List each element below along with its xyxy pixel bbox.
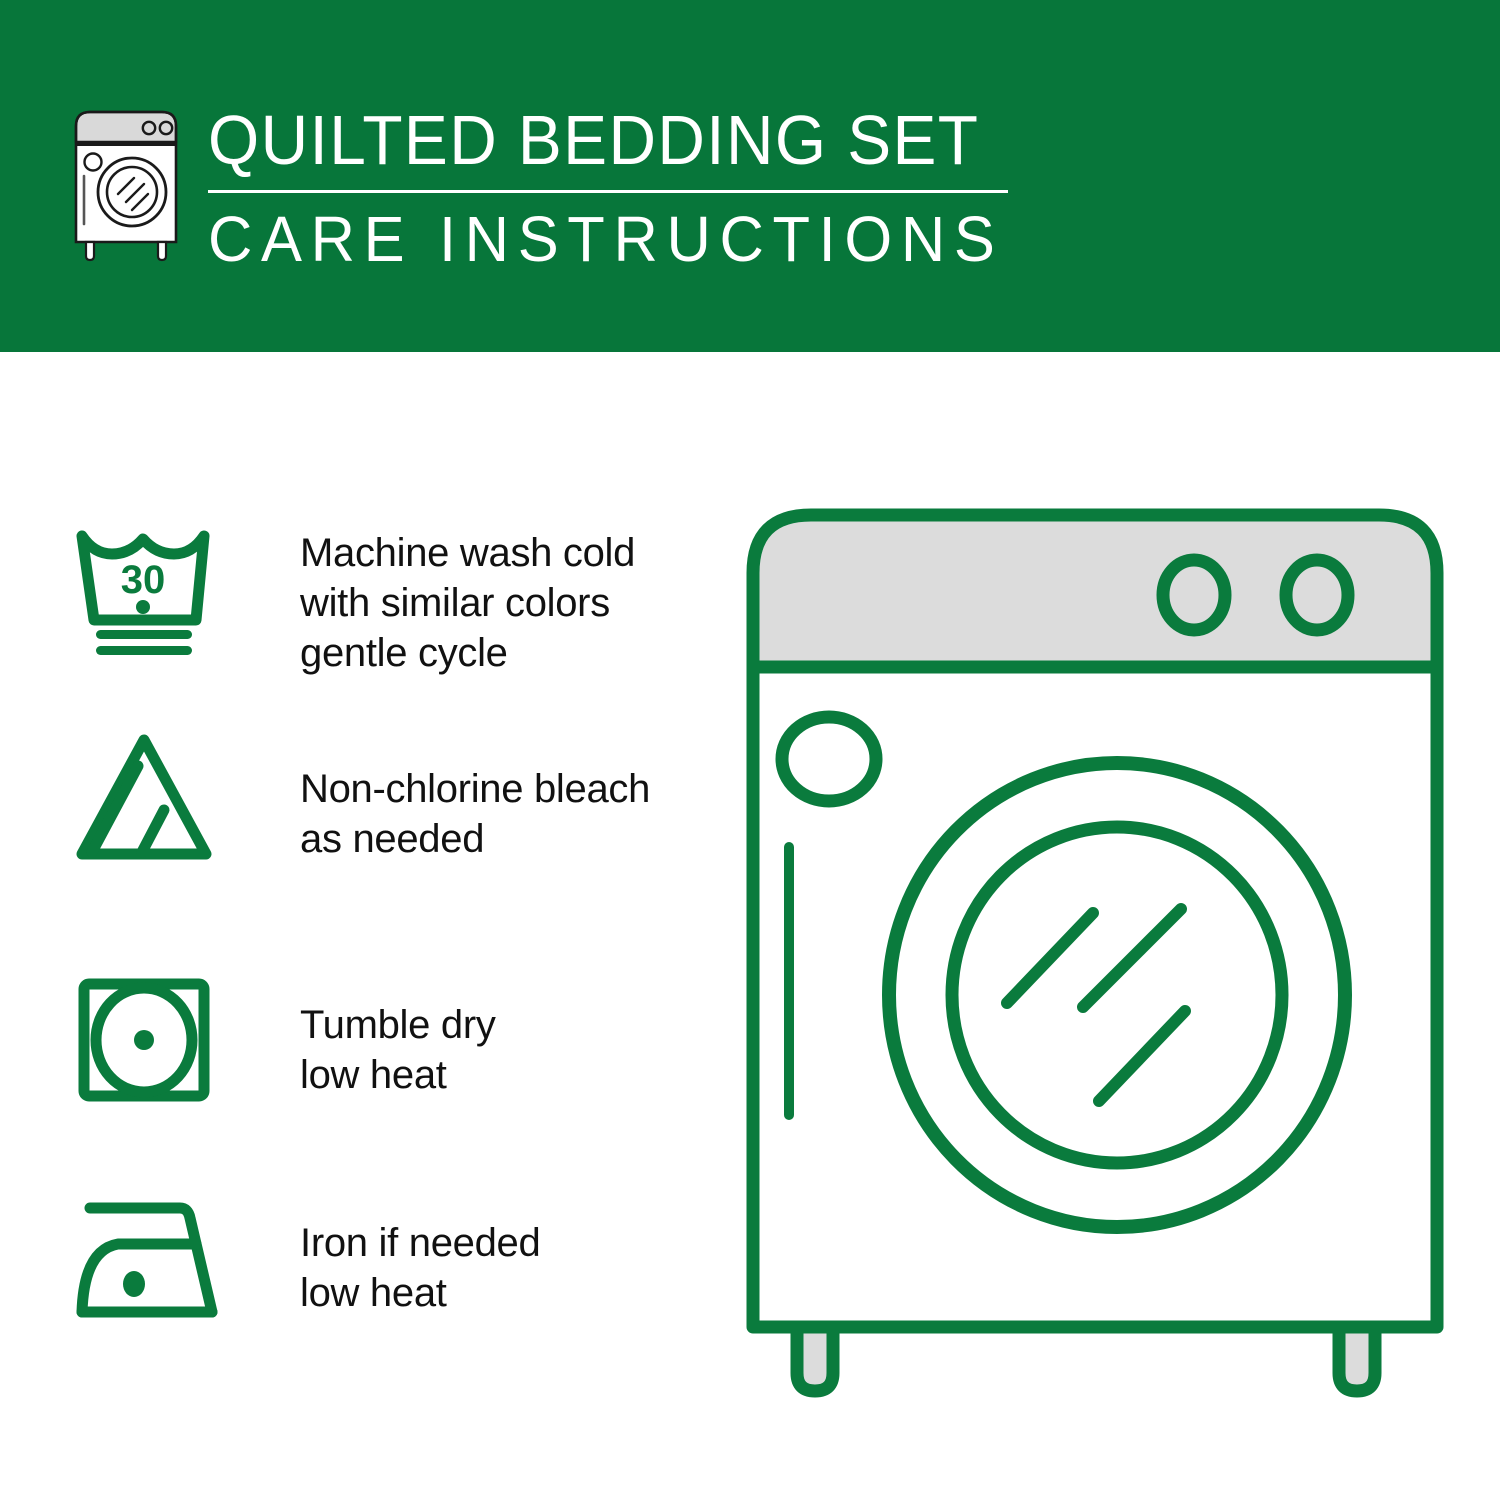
non-chlorine-bleach-triangle-icon — [72, 730, 232, 870]
care-item-label: Tumble dry low heat — [300, 970, 496, 1100]
care-item-iron: Iron if needed low heat — [72, 1190, 540, 1330]
header-content: QUILTED BEDDING SET CARE INSTRUCTIONS — [62, 96, 1037, 275]
header-titles: QUILTED BEDDING SET CARE INSTRUCTIONS — [208, 96, 1037, 275]
header-band: QUILTED BEDDING SET CARE INSTRUCTIONS — [0, 0, 1500, 352]
page-subtitle: CARE INSTRUCTIONS — [208, 203, 1003, 275]
care-item-bleach: Non-chlorine bleach as needed — [72, 730, 650, 870]
care-instruction-list: 30 Machine wash cold with similar colors… — [0, 352, 720, 1500]
iron-low-heat-icon — [72, 1190, 232, 1330]
control-panel — [753, 515, 1437, 667]
care-item-machine-wash: 30 Machine wash cold with similar colors… — [72, 520, 635, 678]
tumble-dry-low-heat-icon — [72, 970, 232, 1110]
washing-machine-icon — [62, 96, 190, 264]
washing-machine-illustration — [735, 495, 1455, 1425]
care-item-label: Non-chlorine bleach as needed — [300, 730, 650, 864]
page-title: QUILTED BEDDING SET — [208, 102, 987, 178]
care-item-label: Iron if needed low heat — [300, 1190, 540, 1318]
care-item-tumble-dry: Tumble dry low heat — [72, 970, 496, 1110]
wash-tub-30-gentle-icon: 30 — [72, 520, 232, 660]
wash-temperature-label: 30 — [121, 558, 166, 602]
care-item-label: Machine wash cold with similar colors ge… — [300, 520, 635, 678]
title-divider — [208, 190, 1008, 193]
